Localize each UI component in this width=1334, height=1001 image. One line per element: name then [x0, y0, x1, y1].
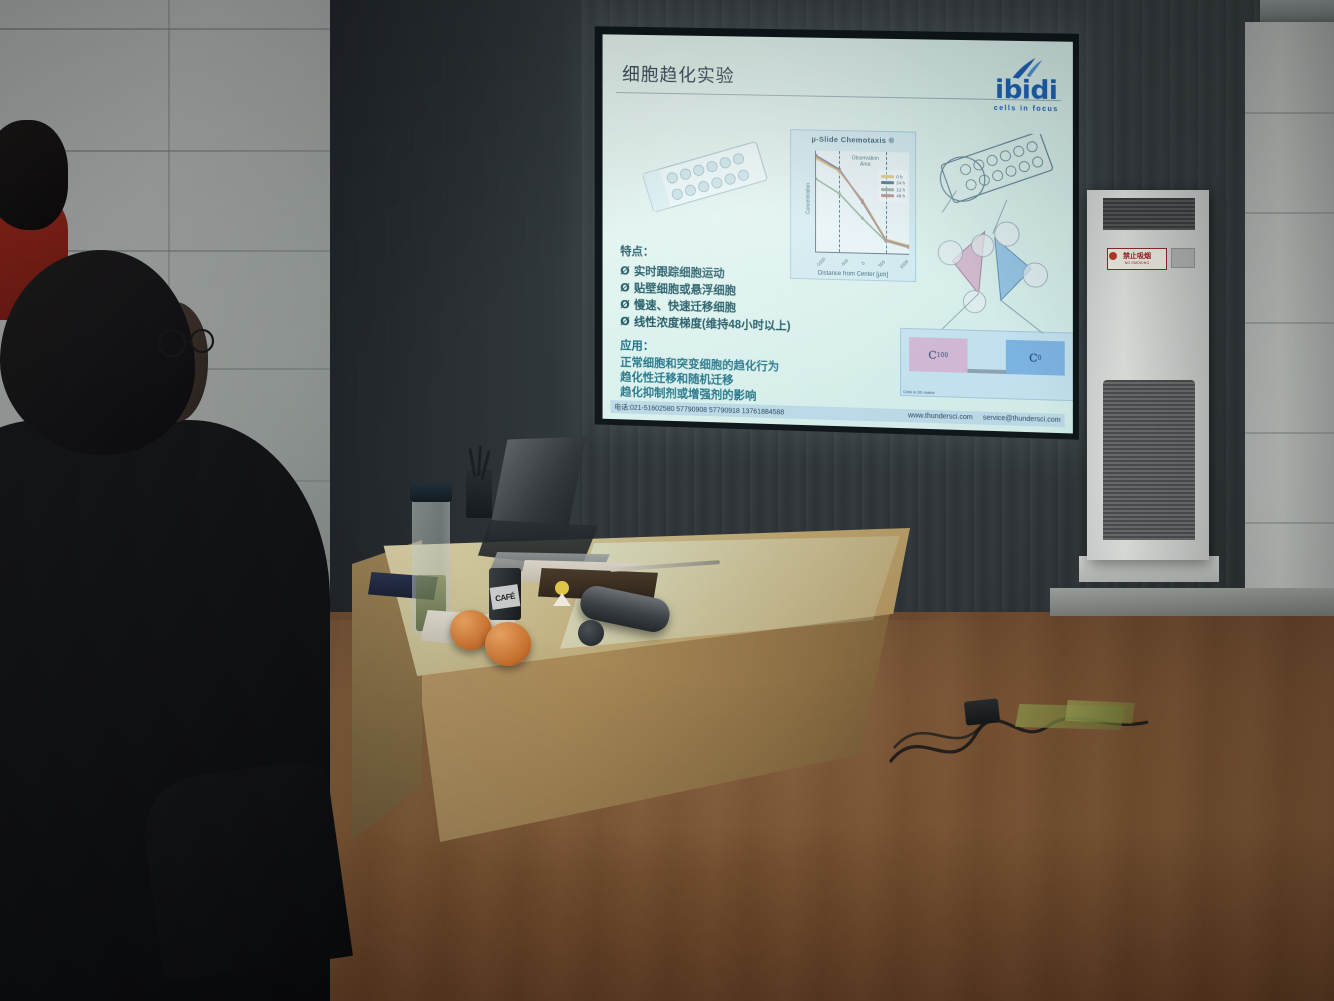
pen-cup	[466, 470, 492, 518]
chemotaxis-channel	[967, 369, 1005, 374]
hair	[0, 120, 68, 230]
chemotaxis-chart: µ-Slide Chemotaxis ® Concentration Obser…	[790, 129, 916, 282]
applications-block: 应用： 正常细胞和突变细胞的趋化行为 趋化性迁移和随机迁移 趋化抑制剂或增强剂的…	[620, 337, 779, 405]
legend-item: 0 h	[881, 173, 905, 179]
bullet-mark-icon: Ø	[620, 313, 634, 329]
baseboard	[1050, 588, 1334, 616]
ac-control-panel[interactable]	[1171, 248, 1195, 268]
reservoir-c0: C0	[1006, 340, 1065, 376]
applications-heading: 应用：	[620, 337, 779, 357]
slide-footer: 电话:021-51602580 57790908 57790918 137618…	[610, 400, 1064, 427]
feature-text: 慢速、快速迁移细胞	[634, 300, 736, 315]
legend-swatch	[881, 181, 894, 184]
chart-legend: 0 h 24 h 12 h 48 h	[879, 170, 907, 202]
footer-website: www.thundersci.com	[908, 412, 973, 421]
bullet-mark-icon: Ø	[620, 263, 634, 279]
no-smoking-sign: 禁止吸烟 NO SMOKING	[1107, 248, 1167, 270]
orange-fruit	[485, 622, 531, 666]
microphone-head	[578, 620, 604, 646]
legend-item: 48 h	[881, 193, 905, 199]
legend-swatch	[881, 174, 894, 177]
feature-text: 线性浓度梯度(维持48小时以上)	[634, 317, 791, 333]
floor-cable-tape	[1065, 700, 1135, 724]
x-tick: 0	[861, 261, 866, 266]
bullet-mark-icon: Ø	[620, 296, 634, 312]
chart-plot-area: Observation Area 0 h 24 h	[815, 151, 909, 255]
legend-label: 24 h	[896, 180, 905, 185]
x-tick: 1000	[899, 259, 910, 270]
chart-title: µ-Slide Chemotaxis ®	[791, 134, 915, 145]
feature-text: 实时跟踪细胞运动	[634, 266, 725, 280]
chart-x-axis-label: Distance from Center [µm]	[791, 270, 915, 279]
projection-screen: 细胞趋化实验 ibidi cells in focus	[595, 26, 1079, 439]
eyeglasses-icon	[156, 326, 216, 360]
legend-swatch	[881, 194, 894, 197]
bullet-mark-icon: Ø	[620, 279, 634, 295]
chart-series-lines	[816, 151, 909, 254]
legend-label: 48 h	[896, 193, 905, 198]
legend-swatch	[881, 188, 894, 191]
legend-item: 24 h	[881, 180, 905, 186]
small-figurine	[550, 580, 574, 606]
no-smoking-subtext: NO SMOKING	[1125, 261, 1150, 265]
conference-room-scene: 细胞趋化实验 ibidi cells in focus	[0, 0, 1334, 1001]
chart-x-ticks: -1000 -500 0 500 1000	[815, 260, 909, 267]
ac-top-vent	[1103, 198, 1195, 230]
reservoir-c100: C100	[909, 337, 967, 373]
ibidi-logo: ibidi cells in focus	[994, 55, 1059, 114]
footer-email: service@thundersci.com	[983, 415, 1061, 424]
coffee-can-label: CAFÉ	[490, 584, 521, 610]
cable-plug	[964, 698, 1000, 725]
legend-label: 12 h	[896, 187, 905, 192]
features-block: 特点： Ø实时跟踪细胞运动 Ø贴壁细胞或悬浮细胞 Ø慢速、快速迁移细胞 Ø线性浓…	[620, 243, 790, 335]
projected-slide: 细胞趋化实验 ibidi cells in focus	[603, 34, 1073, 433]
chemotaxis-schematic	[922, 132, 1072, 337]
feature-text: 贴壁细胞或悬浮细胞	[634, 283, 736, 298]
feature-item: Ø线性浓度梯度(维持48小时以上)	[620, 313, 790, 335]
no-smoking-text: 禁止吸烟	[1123, 253, 1151, 261]
air-conditioner: 禁止吸烟 NO SMOKING	[1087, 190, 1209, 560]
x-tick: -500	[839, 258, 849, 268]
x-tick: -1000	[815, 256, 827, 268]
right-wall	[1245, 22, 1334, 642]
legend-label: 0 h	[896, 174, 902, 179]
cells-label: Cells in 3D matrix	[903, 389, 935, 395]
seated-viewer-foreground	[0, 230, 360, 1001]
chart-y-axis-label: Concentration	[806, 183, 812, 214]
slide-outline-icon	[934, 132, 1054, 207]
features-heading: 特点：	[620, 243, 790, 263]
footer-phone: 电话:021-51602580 57790908 57790918 137618…	[614, 402, 784, 417]
ac-air-grill	[1103, 380, 1195, 540]
legend-item: 12 h	[881, 187, 905, 193]
arm	[137, 758, 353, 982]
ibidi-wordmark: ibidi	[994, 77, 1059, 104]
bottle-cap	[410, 482, 452, 502]
mu-slide-product-photo	[630, 130, 778, 225]
ibidi-tagline: cells in focus	[994, 105, 1059, 113]
x-tick: 500	[877, 259, 886, 268]
no-smoking-icon	[1109, 252, 1117, 260]
chart-point	[838, 192, 841, 195]
slide-title: 细胞趋化实验	[622, 60, 734, 88]
chamber-diagram: C100 C0 Cells in 3D matrix	[900, 328, 1073, 401]
chart-point	[861, 217, 864, 220]
